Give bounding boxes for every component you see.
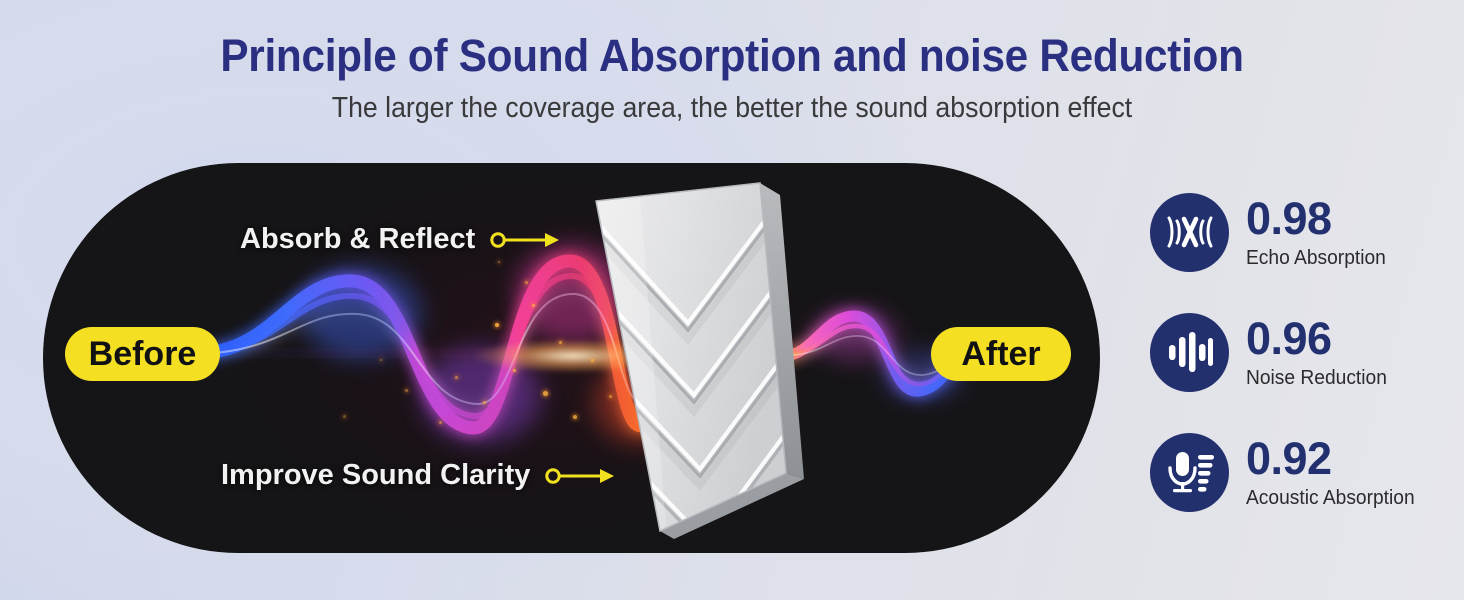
stat-icon-wrapper (1150, 433, 1229, 512)
infographic-root: Principle of Sound Absorption and noise … (0, 0, 1464, 600)
stat-noise-reduction: 0.96 Noise Reduction (1150, 304, 1450, 400)
page-title: Principle of Sound Absorption and noise … (44, 0, 1420, 78)
waveform-bars-icon (1167, 330, 1213, 374)
stat-label: Acoustic Absorption (1246, 488, 1415, 508)
noise-cancel-icon (1165, 209, 1215, 255)
stat-label: Noise Reduction (1246, 368, 1387, 388)
callout-improve-clarity: Improve Sound Clarity (221, 461, 616, 490)
stats-column: 0.98 Echo Absorption 0.96 N (1150, 184, 1450, 544)
microphone-levels-icon (1165, 449, 1215, 495)
stat-value: 0.96 (1246, 316, 1393, 361)
page-subtitle: The larger the coverage area, the better… (59, 78, 1406, 123)
stat-value: 0.92 (1246, 436, 1422, 481)
callout-clarity-label: Improve Sound Clarity (221, 461, 530, 490)
badge-before: Before (65, 327, 220, 381)
stat-text: 0.98 Echo Absorption (1246, 196, 1392, 268)
badge-after: After (931, 327, 1071, 381)
callout-absorb-label: Absorb & Reflect (240, 225, 475, 254)
stat-label: Echo Absorption (1246, 248, 1386, 268)
header: Principle of Sound Absorption and noise … (0, 0, 1464, 123)
circle-arrow-right-icon (489, 229, 561, 251)
stat-acoustic-absorption: 0.92 Acoustic Absorption (1150, 424, 1450, 520)
stat-icon-wrapper (1150, 193, 1229, 272)
stat-echo-absorption: 0.98 Echo Absorption (1150, 184, 1450, 280)
callout-absorb-reflect: Absorb & Reflect (240, 225, 561, 254)
illustration-panel: Before After Absorb & Reflect Improve So… (43, 163, 1100, 553)
stat-value: 0.98 (1246, 196, 1392, 241)
circle-arrow-right-icon (544, 465, 616, 487)
stat-icon-wrapper (1150, 313, 1229, 392)
stat-text: 0.96 Noise Reduction (1246, 316, 1393, 388)
stat-text: 0.92 Acoustic Absorption (1246, 436, 1422, 508)
